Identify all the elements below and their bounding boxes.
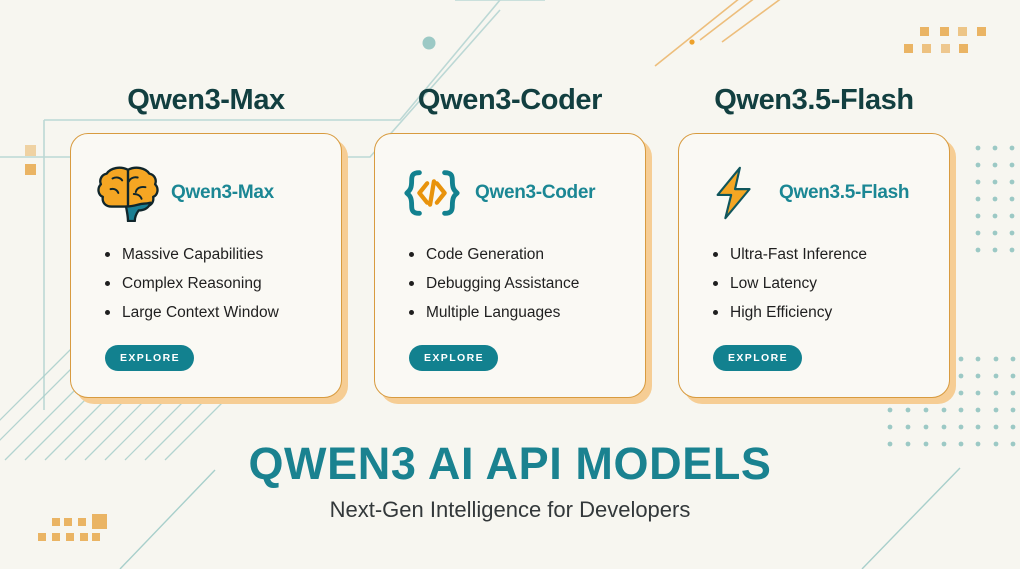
list-item: Complex Reasoning	[105, 269, 321, 298]
explore-wrap-qwen35-flash: EXPLORE	[699, 345, 929, 397]
explore-wrap-qwen3-coder: EXPLORE	[395, 345, 625, 397]
list-item: Debugging Assistance	[409, 269, 625, 298]
card-heading-qwen3-coder: Qwen3-Coder	[418, 86, 602, 115]
page-subtitle: Next-Gen Intelligence for Developers	[0, 494, 1020, 526]
explore-button-qwen3-coder[interactable]: EXPLORE	[409, 345, 498, 371]
feature-list-qwen35-flash: Ultra-Fast Inference Low Latency High Ef…	[699, 240, 929, 327]
card-heading-qwen3-max: Qwen3-Max	[127, 86, 285, 115]
page-title: QWEN3 AI API MODELS	[0, 438, 1020, 490]
card-heading-qwen35-flash: Qwen3.5-Flash	[714, 86, 913, 115]
card-qwen3-max[interactable]: Qwen3-Max Massive Capabilities Complex R…	[70, 133, 342, 398]
list-item: Massive Capabilities	[105, 240, 321, 269]
list-item: Ultra-Fast Inference	[713, 240, 929, 269]
feature-list-qwen3-max: Massive Capabilities Complex Reasoning L…	[91, 240, 321, 327]
card-label-qwen3-coder: Qwen3-Coder	[475, 182, 595, 204]
teal-accent-dot	[423, 37, 436, 50]
card-column-qwen3-coder: Qwen3-Coder Qwen3-Coder	[374, 86, 646, 398]
card-header-qwen35-flash: Qwen3.5-Flash	[699, 154, 929, 232]
list-item: Code Generation	[409, 240, 625, 269]
model-cards-row: Qwen3-Max	[0, 86, 1020, 398]
card-label-qwen35-flash: Qwen3.5-Flash	[779, 182, 909, 204]
card-qwen35-flash[interactable]: Qwen3.5-Flash Ultra-Fast Inference Low L…	[678, 133, 950, 398]
lightning-bolt-icon	[705, 164, 767, 222]
top-right-orange-dot-grid	[904, 27, 986, 53]
card-header-qwen3-coder: Qwen3-Coder	[395, 154, 625, 232]
list-item: Multiple Languages	[409, 298, 625, 327]
footer-block: QWEN3 AI API MODELS Next-Gen Intelligenc…	[0, 438, 1020, 526]
card-column-qwen3-max: Qwen3-Max	[70, 86, 342, 398]
explore-wrap-qwen3-max: EXPLORE	[91, 345, 321, 397]
card-label-qwen3-max: Qwen3-Max	[171, 182, 274, 204]
top-right-diagonal-lines	[655, 0, 790, 66]
list-item: High Efficiency	[713, 298, 929, 327]
explore-button-qwen35-flash[interactable]: EXPLORE	[713, 345, 802, 371]
list-item: Low Latency	[713, 269, 929, 298]
card-column-qwen35-flash: Qwen3.5-Flash Qwen3.5-Flash Ultra-Fast I…	[678, 86, 950, 398]
code-braces-icon	[401, 164, 463, 222]
brain-icon	[97, 164, 159, 222]
list-item: Large Context Window	[105, 298, 321, 327]
card-header-qwen3-max: Qwen3-Max	[91, 154, 321, 232]
explore-button-qwen3-max[interactable]: EXPLORE	[105, 345, 194, 371]
feature-list-qwen3-coder: Code Generation Debugging Assistance Mul…	[395, 240, 625, 327]
infographic-poster: Qwen3-Max	[0, 0, 1020, 569]
card-qwen3-coder[interactable]: Qwen3-Coder Code Generation Debugging As…	[374, 133, 646, 398]
